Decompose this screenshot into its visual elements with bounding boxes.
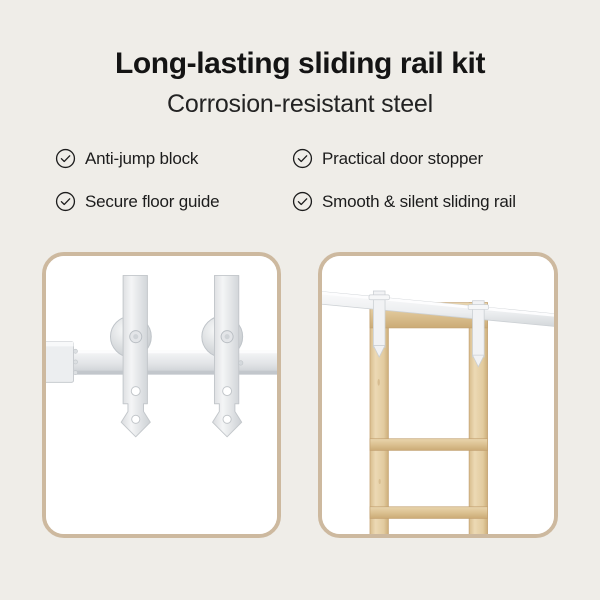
feature-label: Anti-jump block	[85, 149, 198, 169]
page-title: Long-lasting sliding rail kit	[0, 47, 600, 81]
installation-illustration	[322, 256, 554, 534]
header: Long-lasting sliding rail kit Corrosion-…	[0, 0, 600, 119]
feature-item-smooth-silent-sliding-rail: Smooth & silent sliding rail	[292, 191, 555, 212]
rail-end-stop	[46, 342, 78, 383]
feature-label: Secure floor guide	[85, 192, 219, 212]
circle-check-icon	[292, 191, 313, 212]
page-subtitle: Corrosion-resistant steel	[0, 90, 600, 119]
hardware-closeup-illustration	[46, 256, 277, 534]
feature-item-practical-door-stopper: Practical door stopper	[292, 148, 555, 169]
feature-list: Anti-jump block Practical door stopper S…	[55, 148, 555, 212]
circle-check-icon	[55, 191, 76, 212]
hardware-closeup-panel[interactable]	[42, 252, 281, 538]
feature-item-anti-jump-block: Anti-jump block	[55, 148, 292, 169]
feature-item-secure-floor-guide: Secure floor guide	[55, 191, 292, 212]
feature-label: Smooth & silent sliding rail	[322, 192, 516, 212]
installation-panel[interactable]	[318, 252, 558, 538]
circle-check-icon	[292, 148, 313, 169]
feature-label: Practical door stopper	[322, 149, 483, 169]
circle-check-icon	[55, 148, 76, 169]
product-image-panels	[0, 252, 600, 538]
